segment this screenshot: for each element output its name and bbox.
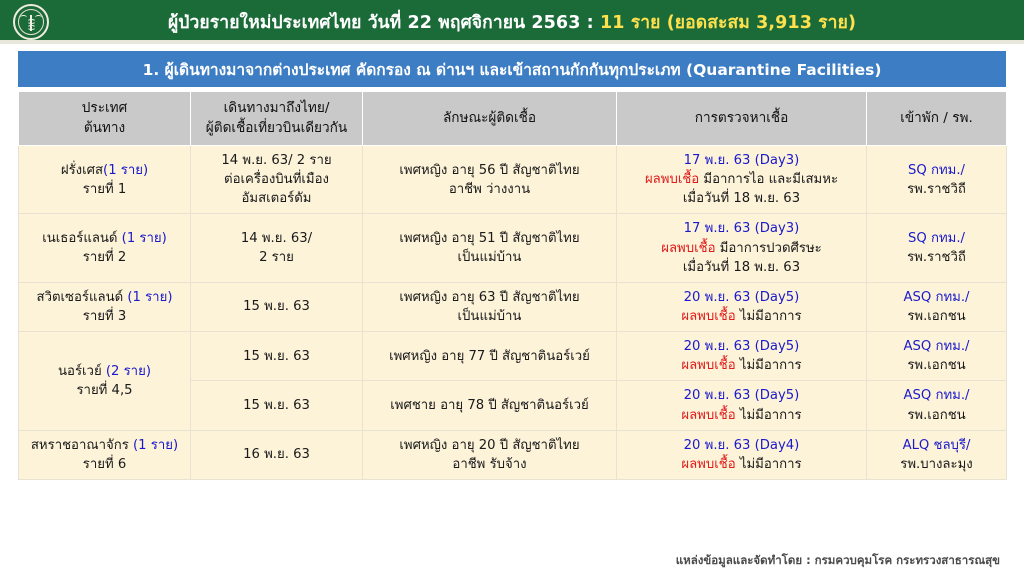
test-date: 20 พ.ย. 63 (Day5) [621, 337, 862, 356]
test-result-badge: ผลพบเชื้อ [681, 358, 735, 373]
cell-origin-country: ฝรั่งเศส(1 ราย) รายที่ 1 [19, 146, 191, 214]
cell-case-profile: เพศหญิง อายุ 77 ปี สัญชาตินอร์เวย์ [363, 332, 617, 381]
page-title: ผู้ป่วยรายใหม่ประเทศไทย วันที่ 22 พฤศจิก… [62, 8, 1024, 36]
cell-arrival: 16 พ.ย. 63 [191, 430, 363, 479]
table-body: ฝรั่งเศส(1 ราย) รายที่ 1 14 พ.ย. 63/ 2 ร… [19, 146, 1007, 480]
origin-country-line: สวิตเซอร์แลนด์ (1 ราย) [23, 288, 186, 307]
cell-case-profile: เพศหญิง อายุ 20 ปี สัญชาติไทย อาชีพ รับจ… [363, 430, 617, 479]
caduceus-wing-right-icon [35, 15, 42, 20]
table-row: สหราชอาณาจักร (1 ราย) รายที่ 6 16 พ.ย. 6… [19, 430, 1007, 479]
cell-accommodation: ASQ กทม./ รพ.เอกชน [867, 332, 1007, 381]
header-accent-strip [0, 40, 1024, 44]
table-wrap: ประเทศ ต้นทาง เดินทางมาถึงไทย/ ผู้ติดเชื… [18, 91, 1006, 480]
test-result-badge: ผลพบเชื้อ [681, 408, 735, 423]
cell-case-profile: เพศหญิง อายุ 51 ปี สัญชาติไทย เป็นแม่บ้า… [363, 214, 617, 282]
footer-source-credit: แหล่งข้อมูลและจัดทำโดย : กรมควบคุมโรค กร… [0, 552, 1024, 570]
origin-country-line: นอร์เวย์ (2 ราย) [23, 362, 186, 381]
cell-testing: 20 พ.ย. 63 (Day5) ผลพบเชื้อ ไม่มีอาการ [617, 381, 867, 430]
cell-accommodation: ASQ กทม./ รพ.เอกชน [867, 381, 1007, 430]
test-result-line: ผลพบเชื้อ ไม่มีอาการ [621, 356, 862, 375]
page-header-bar: ผู้ป่วยรายใหม่ประเทศไทย วันที่ 22 พฤศจิก… [0, 0, 1024, 44]
slide-page: ผู้ป่วยรายใหม่ประเทศไทย วันที่ 22 พฤศจิก… [0, 0, 1024, 576]
origin-country-line: ฝรั่งเศส(1 ราย) [23, 161, 186, 180]
table-row: นอร์เวย์ (2 ราย) รายที่ 4,5 15 พ.ย. 63 เ… [19, 332, 1007, 381]
origin-case-number: รายที่ 3 [23, 307, 186, 326]
test-result-badge: ผลพบเชื้อ [681, 457, 735, 472]
cell-origin-country: นอร์เวย์ (2 ราย) รายที่ 4,5 [19, 332, 191, 431]
logo-inner-ring [18, 9, 44, 35]
origin-case-number: รายที่ 6 [23, 455, 186, 474]
caduceus-serpent-lower-icon [27, 25, 36, 30]
logo-wrap [0, 0, 62, 44]
table-row: สวิตเซอร์แลนด์ (1 ราย) รายที่ 3 15 พ.ย. … [19, 282, 1007, 331]
column-header-accommodation: เข้าพัก / รพ. [867, 92, 1007, 146]
cell-accommodation: ALQ ชลบุรี/ รพ.บางละมุง [867, 430, 1007, 479]
test-result-line: ผลพบเชื้อ ไม่มีอาการ [621, 406, 862, 425]
origin-case-number: รายที่ 4,5 [23, 381, 186, 400]
table-header-row: ประเทศ ต้นทาง เดินทางมาถึงไทย/ ผู้ติดเชื… [19, 92, 1007, 146]
test-date: 17 พ.ย. 63 (Day3) [621, 151, 862, 170]
test-result-line: ผลพบเชื้อ มีอาการไอ และมีเสมหะ [621, 170, 862, 189]
test-result-line: ผลพบเชื้อ ไม่มีอาการ [621, 455, 862, 474]
cell-testing: 17 พ.ย. 63 (Day3) ผลพบเชื้อ มีอาการปวดศี… [617, 214, 867, 282]
caduceus-wing-left-icon [20, 15, 27, 20]
cell-accommodation: SQ กทม./ รพ.ราชวิถี [867, 214, 1007, 282]
table-row: ฝรั่งเศส(1 ราย) รายที่ 1 14 พ.ย. 63/ 2 ร… [19, 146, 1007, 214]
cell-case-profile: เพศหญิง อายุ 56 ปี สัญชาติไทย อาชีพ ว่าง… [363, 146, 617, 214]
column-header-arrival: เดินทางมาถึงไทย/ ผู้ติดเชื้อเที่ยวบินเดี… [191, 92, 363, 146]
test-date: 20 พ.ย. 63 (Day5) [621, 386, 862, 405]
test-result-badge: ผลพบเชื้อ [661, 241, 715, 256]
column-header-case-profile: ลักษณะผู้ติดเชื้อ [363, 92, 617, 146]
cell-origin-country: เนเธอร์แลนด์ (1 ราย) รายที่ 2 [19, 214, 191, 282]
cell-arrival: 14 พ.ย. 63/ 2 ราย [191, 214, 363, 282]
cell-arrival: 15 พ.ย. 63 [191, 381, 363, 430]
table-row: เนเธอร์แลนด์ (1 ราย) รายที่ 2 14 พ.ย. 63… [19, 214, 1007, 282]
test-date: 17 พ.ย. 63 (Day3) [621, 219, 862, 238]
column-header-origin-country: ประเทศ ต้นทาง [19, 92, 191, 146]
origin-case-number: รายที่ 2 [23, 248, 186, 267]
cell-arrival: 15 พ.ย. 63 [191, 332, 363, 381]
cell-case-profile: เพศชาย อายุ 78 ปี สัญชาตินอร์เวย์ [363, 381, 617, 430]
cell-origin-country: สวิตเซอร์แลนด์ (1 ราย) รายที่ 3 [19, 282, 191, 331]
cell-case-profile: เพศหญิง อายุ 63 ปี สัญชาติไทย เป็นแม่บ้า… [363, 282, 617, 331]
cell-testing: 20 พ.ย. 63 (Day5) ผลพบเชื้อ ไม่มีอาการ [617, 332, 867, 381]
origin-case-number: รายที่ 1 [23, 180, 186, 199]
origin-country-line: เนเธอร์แลนด์ (1 ราย) [23, 229, 186, 248]
page-title-case-count: 11 ราย (ยอดสะสม 3,913 ราย) [600, 13, 856, 33]
ministry-of-public-health-logo-icon [13, 4, 49, 40]
cell-arrival: 14 พ.ย. 63/ 2 ราย ต่อเครื่องบินที่เมือง … [191, 146, 363, 214]
table-header: ประเทศ ต้นทาง เดินทางมาถึงไทย/ ผู้ติดเชื… [19, 92, 1007, 146]
test-result-badge: ผลพบเชื้อ [681, 309, 735, 324]
cell-accommodation: ASQ กทม./ รพ.เอกชน [867, 282, 1007, 331]
cell-testing: 17 พ.ย. 63 (Day3) ผลพบเชื้อ มีอาการไอ แล… [617, 146, 867, 214]
cases-table: ประเทศ ต้นทาง เดินทางมาถึงไทย/ ผู้ติดเชื… [18, 91, 1007, 480]
column-header-testing: การตรวจหาเชื้อ [617, 92, 867, 146]
cell-origin-country: สหราชอาณาจักร (1 ราย) รายที่ 6 [19, 430, 191, 479]
page-title-main: ผู้ป่วยรายใหม่ประเทศไทย วันที่ 22 พฤศจิก… [168, 13, 600, 33]
cell-testing: 20 พ.ย. 63 (Day5) ผลพบเชื้อ ไม่มีอาการ [617, 282, 867, 331]
test-date: 20 พ.ย. 63 (Day5) [621, 288, 862, 307]
cell-testing: 20 พ.ย. 63 (Day4) ผลพบเชื้อ ไม่มีอาการ [617, 430, 867, 479]
cell-arrival: 15 พ.ย. 63 [191, 282, 363, 331]
test-result-line: ผลพบเชื้อ มีอาการปวดศีรษะ [621, 239, 862, 258]
test-result-badge: ผลพบเชื้อ [645, 172, 699, 187]
test-result-line: ผลพบเชื้อ ไม่มีอาการ [621, 307, 862, 326]
caduceus-serpent-upper-icon [27, 19, 36, 24]
cell-accommodation: SQ กทม./ รพ.ราชวิถี [867, 146, 1007, 214]
origin-country-line: สหราชอาณาจักร (1 ราย) [23, 436, 186, 455]
test-date: 20 พ.ย. 63 (Day4) [621, 436, 862, 455]
section-banner-quarantine: 1. ผู้เดินทางมาจากต่างประเทศ คัดกรอง ณ ด… [18, 51, 1006, 87]
